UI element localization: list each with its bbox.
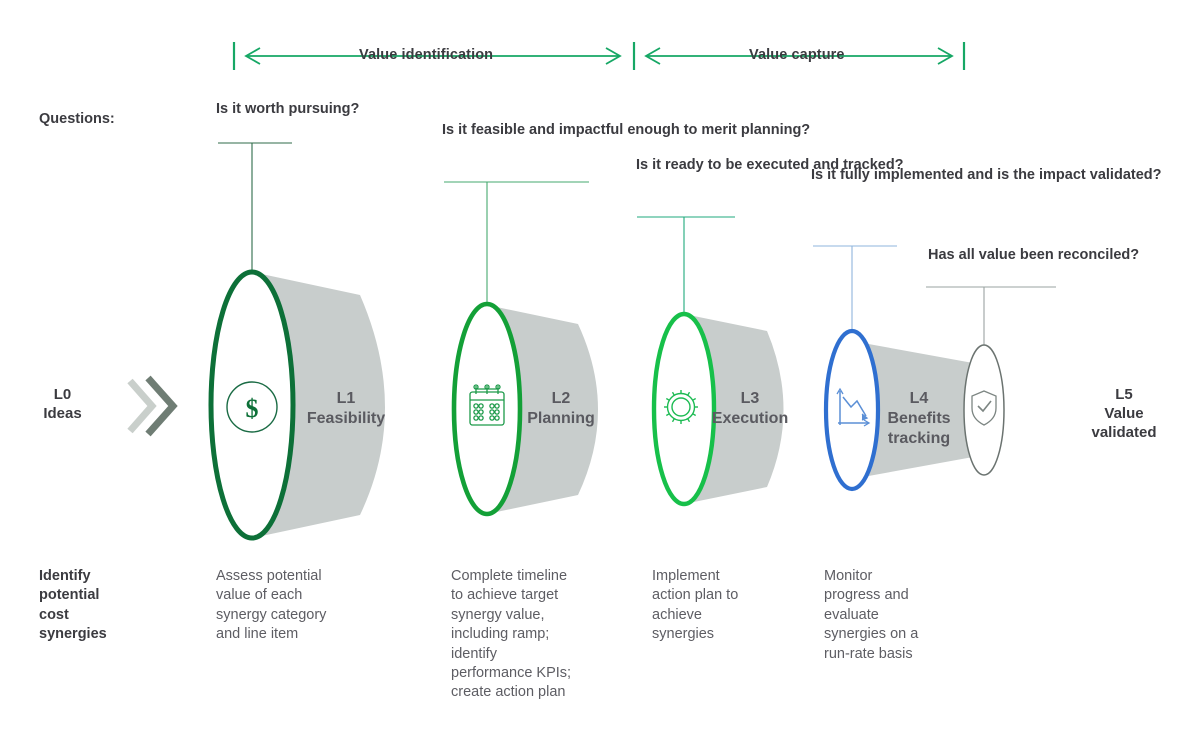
cone-label-l4-line3: tracking xyxy=(888,430,950,447)
cone-label-l3-line1: L3 xyxy=(741,390,760,407)
cone-label-l2-line2: Planning xyxy=(527,410,595,427)
cone-label-l3-line2: Execution xyxy=(712,410,788,427)
cone-label-l1-line2: Feasibility xyxy=(307,410,385,427)
chevron-double-right-icon xyxy=(130,378,173,434)
stage-ring-l3 xyxy=(654,314,714,504)
cone-label-l4-line1: L4 xyxy=(910,390,929,407)
description-l2: Complete timeline to achieve target syne… xyxy=(451,567,621,703)
cone-label-l4-line2: Benefits xyxy=(887,410,950,427)
description-l3: Implement action plan to achieve synergi… xyxy=(652,567,812,645)
cone-label-l2-line1: L2 xyxy=(552,390,571,407)
stage-ring-l2 xyxy=(454,304,520,514)
stage-ring-l4 xyxy=(826,331,878,489)
diagram-canvas: Value identification Value capture Quest… xyxy=(0,0,1200,747)
end-label-l0: L0 Ideas xyxy=(20,385,105,423)
end-label-l5: L5 Value validated xyxy=(1060,385,1188,442)
description-l0: Identify potential cost synergies xyxy=(39,567,179,645)
description-l4: Monitor progress and evaluate synergies … xyxy=(824,567,984,664)
description-l1: Assess potential value of each synergy c… xyxy=(216,567,416,645)
svg-text:$: $ xyxy=(246,394,259,423)
cone-label-l1-line1: L1 xyxy=(337,390,356,407)
